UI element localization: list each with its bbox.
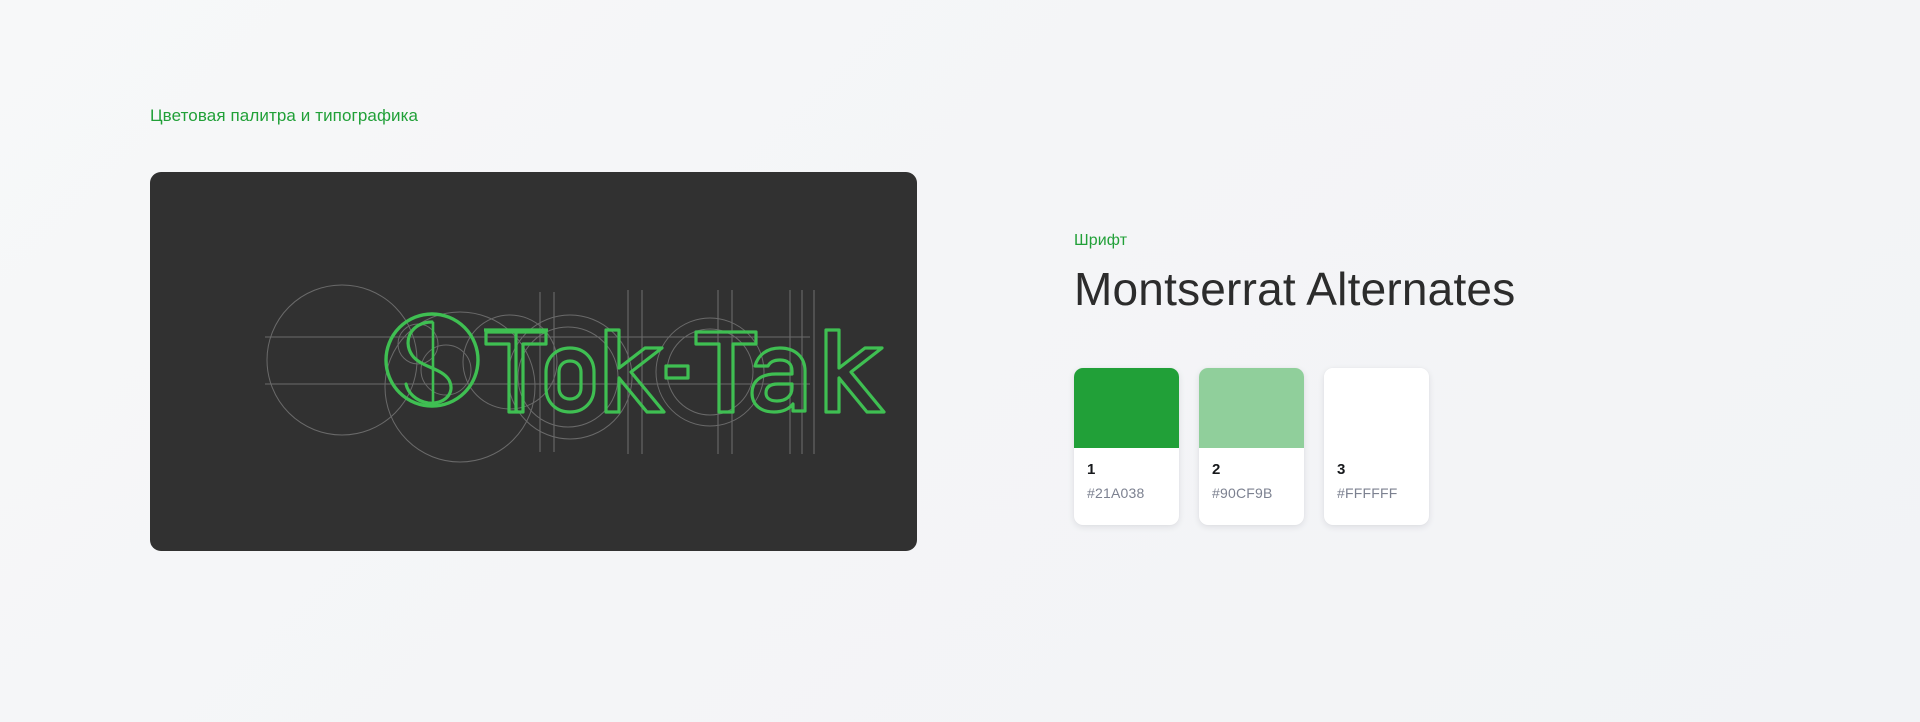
page-title: Цветовая палитра и типографика [150, 106, 418, 126]
swatch-meta: 3 #FFFFFF [1324, 448, 1429, 525]
swatch-meta: 2 #90CF9B [1199, 448, 1304, 525]
font-section-label: Шрифт [1074, 232, 1834, 250]
swatch-card[interactable]: 2 #90CF9B [1199, 368, 1304, 525]
logo-showcase-panel [150, 172, 917, 551]
color-palette: 1 #21A038 2 #90CF9B 3 #FFFFFF [1074, 368, 1429, 525]
logo-construction-artwork [150, 172, 917, 551]
swatch-index: 3 [1337, 462, 1416, 479]
swatch-color-chip [1074, 368, 1179, 448]
typography-block: Шрифт Montserrat Alternates [1074, 232, 1834, 316]
swatch-hex-value: #FFFFFF [1337, 485, 1416, 501]
swatch-card[interactable]: 3 #FFFFFF [1324, 368, 1429, 525]
swatch-index: 2 [1212, 462, 1291, 479]
font-name: Montserrat Alternates [1074, 264, 1834, 316]
palette-typography-page: Цветовая палитра и типографика [0, 0, 1920, 722]
swatch-hex-value: #90CF9B [1212, 485, 1291, 501]
swatch-color-chip [1199, 368, 1304, 448]
swatch-hex-value: #21A038 [1087, 485, 1166, 501]
logo-wordmark [484, 330, 884, 412]
logo-mark [386, 314, 478, 406]
swatch-color-chip [1324, 368, 1429, 448]
swatch-card[interactable]: 1 #21A038 [1074, 368, 1179, 525]
swatch-index: 1 [1087, 462, 1166, 479]
swatch-meta: 1 #21A038 [1074, 448, 1179, 525]
